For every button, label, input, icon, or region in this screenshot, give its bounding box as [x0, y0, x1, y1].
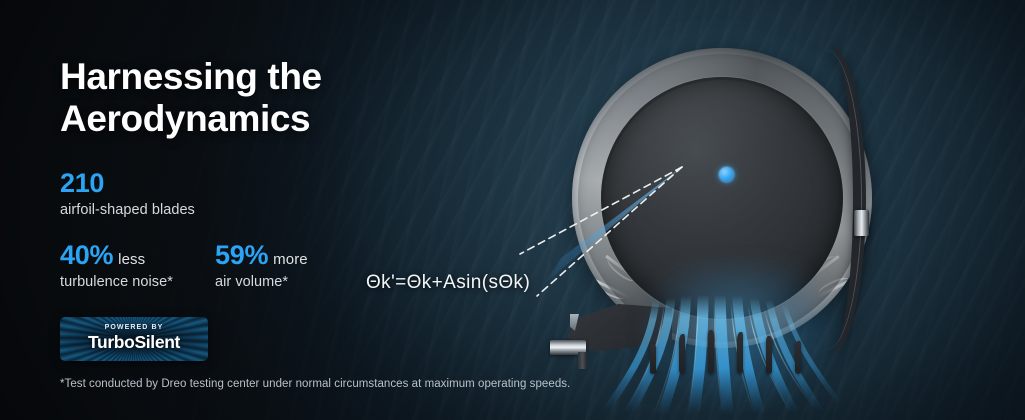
page-title: Harnessing the Aerodynamics — [60, 56, 390, 140]
outlet-vanes — [650, 330, 826, 380]
stat-noise-unit: % — [89, 242, 113, 269]
outlet-vane — [795, 341, 801, 374]
stat-volume-label: air volume* — [215, 274, 370, 290]
stat-volume-unit: % — [244, 242, 268, 269]
aerodynamics-hero-banner: Harnessing the Aerodynamics 210 airfoil-… — [0, 0, 1025, 420]
formula-label: Θk'=Θk+Asin(sΘk) — [366, 272, 530, 294]
right-pivot-knob — [854, 210, 869, 236]
outlet-vane — [737, 332, 743, 374]
outlet-vane — [679, 334, 685, 374]
turbosilent-badge: POWERED BY TurboSilent — [60, 317, 208, 361]
copy-block: Harnessing the Aerodynamics 210 airfoil-… — [60, 56, 390, 361]
badge-text: POWERED BY TurboSilent — [60, 317, 208, 361]
badge-kicker: POWERED BY — [105, 324, 164, 331]
headline-line-1: Harnessing the — [60, 56, 390, 98]
outlet-vane — [650, 344, 656, 374]
center-pivot-dot-icon — [719, 167, 734, 182]
stat-noise: 40% less turbulence noise* — [60, 242, 215, 290]
stat-volume-suffix: more — [273, 251, 308, 268]
stat-noise-line: 40% less — [60, 242, 215, 269]
footnote: *Test conducted by Dreo testing center u… — [60, 378, 570, 390]
stat-row: 40% less turbulence noise* 59% more air … — [60, 242, 390, 290]
fan-illustration — [528, 14, 918, 414]
stat-noise-value: 40 — [60, 242, 89, 269]
stat-noise-label: turbulence noise* — [60, 274, 215, 290]
stat-noise-suffix: less — [118, 251, 145, 268]
stat-blades-label: airfoil-shaped blades — [60, 202, 390, 218]
stat-volume-value: 59 — [215, 242, 244, 269]
stats-block: 210 airfoil-shaped blades 40% less turbu… — [60, 170, 390, 290]
stat-blades: 210 airfoil-shaped blades — [60, 170, 390, 218]
stat-volume-line: 59% more — [215, 242, 370, 269]
stat-volume: 59% more air volume* — [215, 242, 370, 290]
outlet-vane — [766, 336, 772, 374]
outlet-vane — [708, 330, 714, 374]
left-knob-stem — [578, 352, 587, 369]
stat-blades-value: 210 — [60, 170, 390, 197]
headline-line-2: Aerodynamics — [60, 98, 390, 140]
badge-name: TurboSilent — [88, 332, 180, 353]
